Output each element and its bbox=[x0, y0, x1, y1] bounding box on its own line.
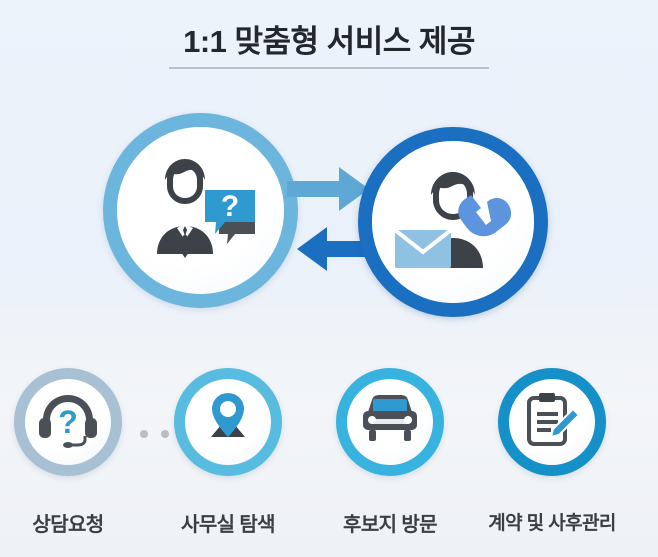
hero-right-inner bbox=[372, 141, 534, 303]
title-block: 1:1 맞춤형 서비스 제공 bbox=[0, 22, 658, 69]
svg-text:?: ? bbox=[220, 190, 238, 223]
agent-phone-mail-icon bbox=[389, 168, 517, 277]
step-circle-2[interactable] bbox=[336, 368, 444, 476]
step-label-3: 계약 및 사후관리 bbox=[488, 508, 616, 535]
step-label-2: 후보지 방문 bbox=[343, 508, 437, 537]
map-pin-icon bbox=[199, 391, 257, 454]
page-title: 1:1 맞춤형 서비스 제공 bbox=[0, 22, 658, 62]
process-step-office-search[interactable]: 사무실 탐색 bbox=[168, 368, 288, 476]
title-underline-divider bbox=[169, 67, 489, 69]
arrow-right-icon bbox=[287, 167, 369, 211]
svg-text:?: ? bbox=[58, 404, 78, 440]
step-label-0: 상담요청 bbox=[32, 508, 103, 537]
process-step-contract-aftercare[interactable]: 계약 및 사후관리 bbox=[492, 368, 612, 476]
hero-diagram: ? bbox=[0, 105, 658, 340]
step-label-1: 사무실 탐색 bbox=[181, 508, 275, 537]
hero-circle-customer[interactable]: ? bbox=[103, 113, 298, 308]
process-step-site-visit[interactable]: 후보지 방문 bbox=[330, 368, 450, 476]
clipboard-pencil-icon bbox=[523, 391, 581, 454]
process-step-consult-request[interactable]: ? 상담요청 bbox=[8, 368, 128, 476]
step-circle-3[interactable] bbox=[498, 368, 606, 476]
step-circle-1[interactable] bbox=[174, 368, 282, 476]
process-steps: ? 상담요청 사무실 탐색 bbox=[0, 368, 658, 503]
step-circle-0[interactable]: ? bbox=[14, 368, 122, 476]
hero-circle-agent[interactable] bbox=[358, 127, 548, 317]
car-front-icon bbox=[359, 394, 421, 451]
headset-question-icon: ? bbox=[37, 391, 99, 454]
person-question-chat-icon: ? bbox=[137, 154, 265, 267]
hero-left-inner: ? bbox=[117, 127, 284, 294]
